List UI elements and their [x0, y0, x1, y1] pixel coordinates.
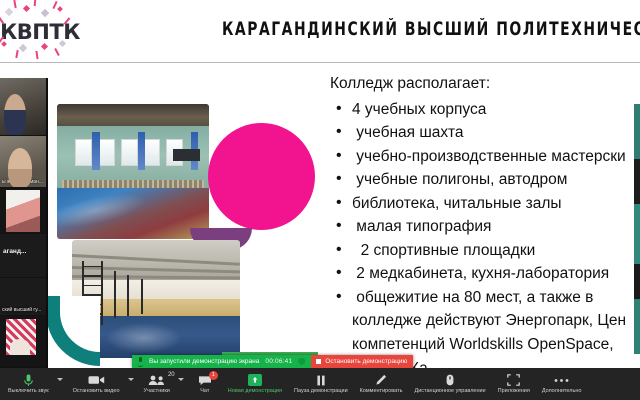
stop-square-icon [316, 359, 321, 364]
photo-gymnasium-1 [57, 104, 209, 239]
chevron-down-icon [128, 378, 134, 381]
participant-tile[interactable] [0, 316, 46, 368]
participants-icon: 20 [148, 374, 166, 387]
shield-icon [298, 358, 305, 366]
video-options-button[interactable] [126, 368, 138, 400]
pencil-icon [375, 374, 387, 387]
video-camera-icon [88, 374, 105, 387]
chevron-down-icon [178, 378, 184, 381]
stop-share-label: Остановить демонстрацию [325, 358, 407, 365]
slide-body-text: Колледж располагает: 4 учебных корпуса у… [330, 72, 640, 400]
logo-text: КВПТК [0, 20, 80, 44]
participants-count: 20 [168, 372, 175, 378]
zoom-meeting-window: КВПТК КАРАГАНДИНСКИЙ ВЫСШИЙ ПОЛИТЕХНИЧЕС… [0, 0, 640, 400]
new-share-button[interactable]: Новая демонстрация [222, 368, 288, 400]
audio-options-button[interactable] [55, 368, 67, 400]
screen-share-status-bar: Вы запустили демонстрацию экрана 00:06:4… [132, 355, 413, 368]
share-status-text: Вы запустили демонстрацию экрана [149, 358, 259, 365]
list-item-continuation: компетенций Worldskills OpenSpace, [330, 333, 640, 357]
remote-control-button[interactable]: Дистанционное управление [408, 368, 491, 400]
right-video-strip [634, 104, 640, 354]
mute-control-group: Выключить звук [2, 368, 67, 400]
list-item-continuation: колледже действуют Энергопарк, Цен [330, 309, 640, 333]
list-item: учебные полигоны, автодром [330, 168, 640, 192]
participants-label: Участники [144, 388, 170, 395]
participant-filmstrip[interactable]: ы жоғары гуман... аганд... ский высший г… [0, 78, 46, 368]
list-item: библиотека, читальные залы [330, 192, 640, 216]
more-options-label: Дополнительно [542, 388, 582, 395]
shared-presentation-slide: КВПТК КАРАГАНДИНСКИЙ ВЫСШИЙ ПОЛИТЕХНИЧЕС… [0, 0, 640, 400]
participants-button[interactable]: 20 Участники [138, 368, 176, 400]
more-options-button[interactable]: Дополнительно [536, 368, 588, 400]
share-timer: 00:06:41 [265, 358, 292, 365]
chat-unread-badge: 1 [209, 371, 218, 380]
share-status-group: Вы запустили демонстрацию экрана 00:06:4… [132, 355, 311, 368]
list-item: общежитие на 80 мест, а также в [330, 286, 640, 310]
slide-header: КВПТК КАРАГАНДИНСКИЙ ВЫСШИЙ ПОЛИТЕХНИЧЕС… [0, 0, 640, 62]
share-screen-icon [248, 374, 262, 387]
remote-control-icon [446, 374, 454, 387]
mute-audio-button[interactable]: Выключить звук [2, 368, 55, 400]
participant-tile[interactable] [0, 78, 46, 136]
list-item: 2 спортивные площадки [330, 239, 640, 263]
remote-control-label: Дистанционное управление [414, 388, 485, 395]
participant-name: ы жоғары гуман... [0, 178, 46, 186]
college-logo: КВПТК [4, 6, 76, 58]
chevron-down-icon [57, 378, 63, 381]
pause-icon [316, 374, 326, 387]
participant-tile[interactable]: ский высший гу... [0, 278, 46, 316]
apps-label: Приложения [498, 388, 530, 395]
list-item: малая типография [330, 215, 640, 239]
annotate-button[interactable]: Комментировать [354, 368, 409, 400]
stop-video-label: Остановить видео [73, 388, 120, 395]
mute-audio-label: Выключить звук [8, 388, 49, 395]
chat-label: Чат [200, 388, 209, 395]
participant-name: аганд... [3, 248, 26, 255]
chat-bubble-icon: 1 [198, 374, 212, 387]
participants-options-button[interactable] [176, 368, 188, 400]
slide-title: КАРАГАНДИНСКИЙ ВЫСШИЙ ПОЛИТЕХНИЧЕСКИЙ КО… [222, 20, 640, 40]
apps-frame-icon [507, 374, 520, 387]
list-item: учебная шахта [330, 121, 640, 145]
microphone-icon [24, 374, 33, 387]
body-lead: Колледж располагает: [330, 72, 640, 96]
apps-button[interactable]: Приложения [492, 368, 536, 400]
list-item: 4 учебных корпуса [330, 98, 640, 122]
participant-tile[interactable]: ы жоғары гуман... [0, 136, 46, 188]
new-share-label: Новая демонстрация [228, 388, 282, 395]
ellipsis-icon [554, 374, 569, 387]
annotate-label: Комментировать [360, 388, 403, 395]
zoom-control-bar: Выключить звук Остановить видео [0, 368, 640, 400]
microphone-icon [137, 357, 143, 366]
participant-tile[interactable] [0, 188, 46, 234]
magenta-circle-decoration [208, 123, 315, 230]
stop-share-button[interactable]: Остановить демонстрацию [311, 355, 413, 368]
pause-share-label: Пауза демонстрации [294, 388, 348, 395]
participants-control-group: 20 Участники [138, 368, 188, 400]
filmstrip-edge [46, 78, 48, 368]
pause-share-button[interactable]: Пауза демонстрации [288, 368, 354, 400]
participant-tile[interactable]: аганд... [0, 234, 46, 278]
stop-video-button[interactable]: Остановить видео [67, 368, 126, 400]
video-control-group: Остановить видео [67, 368, 138, 400]
participant-name: ский высший гу... [0, 306, 46, 314]
list-item: 2 медкабинета, кухня-лаборатория [330, 262, 640, 286]
header-divider [0, 62, 640, 63]
list-item: учебно-производственные мастерски [330, 145, 640, 169]
chat-button[interactable]: 1 Чат [188, 368, 222, 400]
